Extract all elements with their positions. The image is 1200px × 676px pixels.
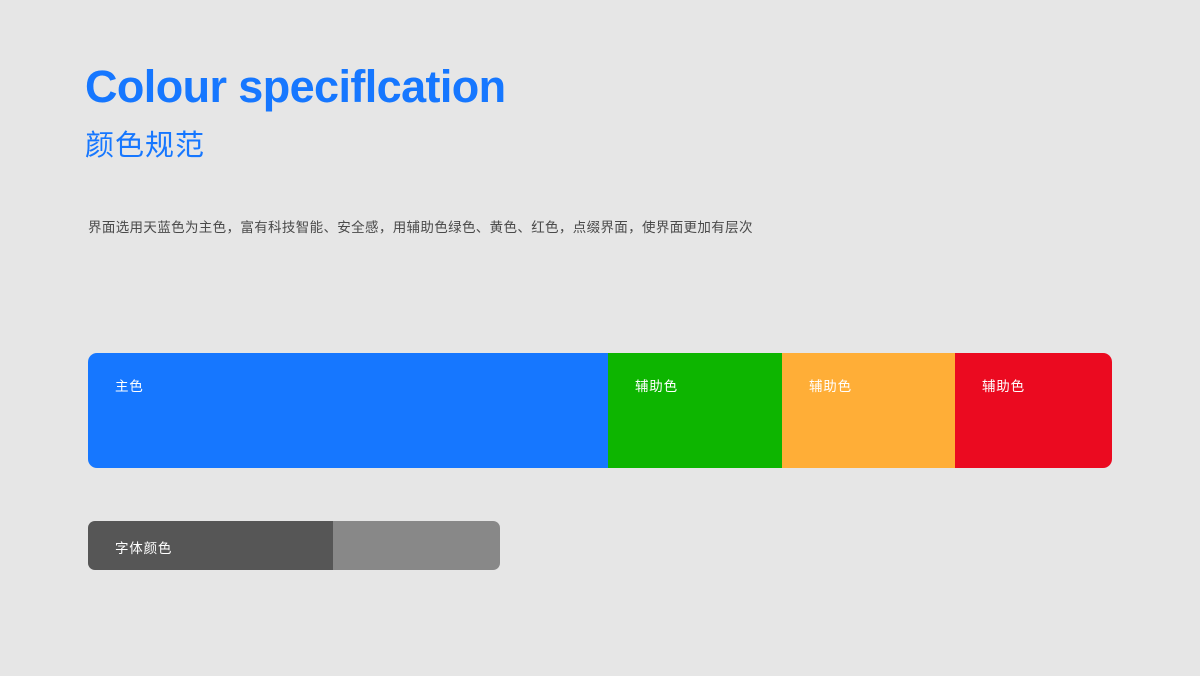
palette-description: 界面选用天蓝色为主色，富有科技智能、安全感，用辅助色绿色、黄色、红色，点缀界面，… xyxy=(88,216,753,236)
page-heading: Colour speciflcation 颜色规范 xyxy=(85,64,506,161)
font-colour-swatch-secondary[interactable] xyxy=(333,521,500,570)
colour-swatch-accent-red[interactable]: 辅助色 xyxy=(955,353,1112,468)
font-colour-swatch-label-primary: 字体颜色 xyxy=(115,537,172,557)
colour-palette-bar: 主色 辅助色 辅助色 辅助色 xyxy=(88,353,1112,468)
colour-swatch-label-accent-red: 辅助色 xyxy=(982,375,1025,395)
colour-swatch-accent-yellow[interactable]: 辅助色 xyxy=(782,353,955,468)
colour-swatch-primary[interactable]: 主色 xyxy=(88,353,608,468)
colour-swatch-label-accent-green: 辅助色 xyxy=(635,375,678,395)
colour-swatch-label-accent-yellow: 辅助色 xyxy=(809,375,852,395)
colour-swatch-accent-green[interactable]: 辅助色 xyxy=(608,353,782,468)
font-colour-bar: 字体颜色 xyxy=(88,521,500,570)
font-colour-swatch-primary[interactable]: 字体颜色 xyxy=(88,521,333,570)
page-title-chinese: 颜色规范 xyxy=(85,132,506,161)
colour-swatch-label-primary: 主色 xyxy=(115,375,144,395)
page-title-english: Colour speciflcation xyxy=(85,64,506,109)
